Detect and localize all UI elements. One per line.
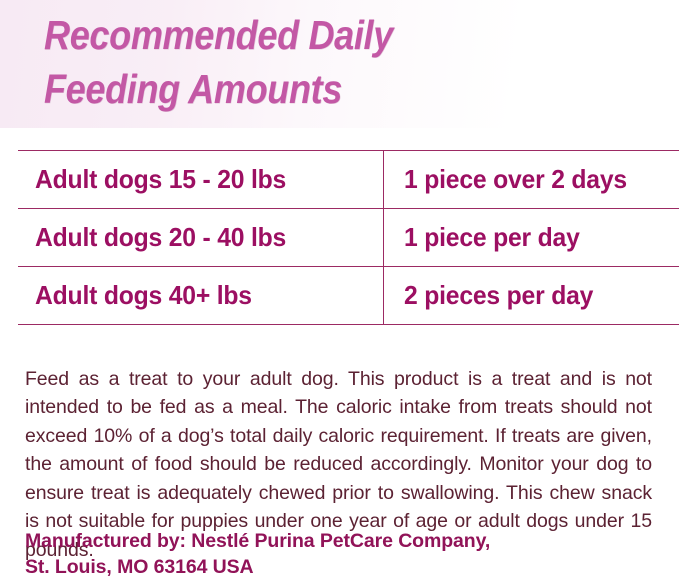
table-cell-feeding-amount: 2 pieces per day	[384, 267, 679, 325]
table-row: Adult dogs 15 - 20 lbs 1 piece over 2 da…	[18, 151, 679, 209]
feeding-amount-label: 2 pieces per day	[404, 280, 593, 311]
table-row: Adult dogs 20 - 40 lbs 1 piece per day	[18, 209, 679, 267]
feeding-amount-label: 1 piece per day	[404, 222, 580, 253]
table-cell-feeding-amount: 1 piece per day	[384, 209, 679, 267]
page-title-line-1: Recommended Daily	[44, 12, 393, 58]
title-banner: Recommended DailyFeeding Amounts	[0, 0, 679, 128]
table-cell-feeding-amount: 1 piece over 2 days	[384, 151, 679, 209]
page-title: Recommended DailyFeeding Amounts	[44, 8, 572, 116]
page-title-line-2: Feeding Amounts	[44, 66, 342, 112]
manufacturer-info: Manufactured by: Nestlé Purina PetCare C…	[25, 528, 652, 580]
dog-weight-label: Adult dogs 20 - 40 lbs	[35, 222, 286, 253]
table-cell-dog-weight: Adult dogs 15 - 20 lbs	[18, 151, 384, 209]
manufacturer-line-2: St. Louis, MO 63164 USA	[25, 554, 652, 580]
table-cell-dog-weight: Adult dogs 40+ lbs	[18, 267, 384, 325]
feeding-amount-label: 1 piece over 2 days	[404, 164, 627, 195]
dog-weight-label: Adult dogs 15 - 20 lbs	[35, 164, 286, 195]
table-row: Adult dogs 40+ lbs 2 pieces per day	[18, 267, 679, 325]
feeding-amounts-table: Adult dogs 15 - 20 lbs 1 piece over 2 da…	[18, 150, 679, 325]
table-cell-dog-weight: Adult dogs 20 - 40 lbs	[18, 209, 384, 267]
dog-weight-label: Adult dogs 40+ lbs	[35, 280, 252, 311]
manufacturer-line-1: Manufactured by: Nestlé Purina PetCare C…	[25, 528, 652, 554]
